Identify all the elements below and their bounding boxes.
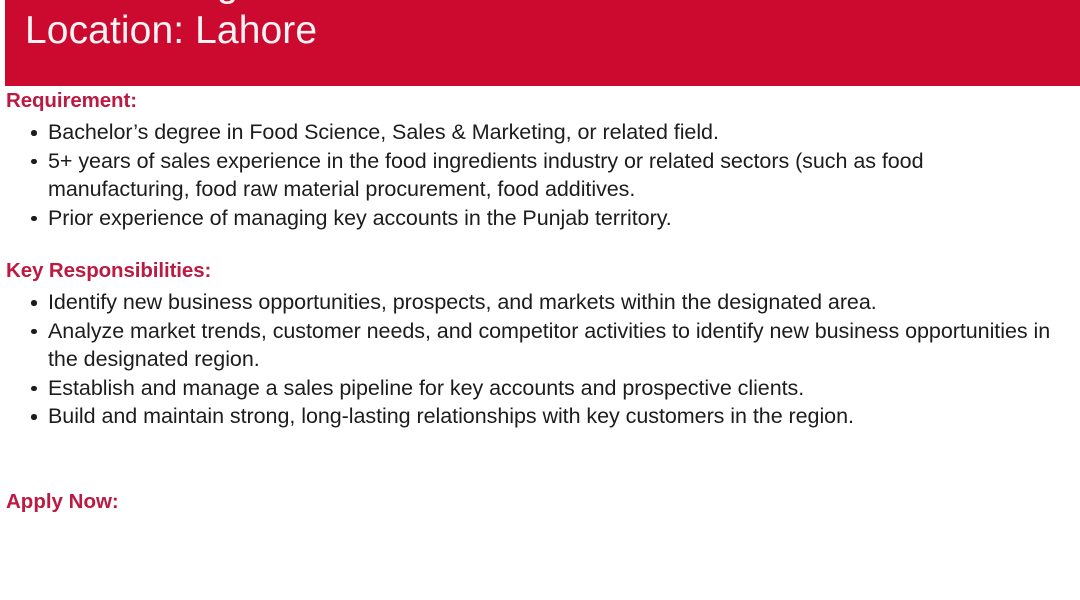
section-spacer [0, 431, 1080, 489]
list-item: Establish and manage a sales pipeline fo… [0, 374, 1080, 403]
requirement-section: Requirement: Bachelor’s degree in Food S… [0, 88, 1080, 232]
requirement-heading: Requirement: [0, 88, 1080, 114]
list-item: 5+ years of sales experience in the food… [0, 147, 1080, 204]
list-item: Prior experience of managing key account… [0, 204, 1080, 233]
responsibilities-section: Key Responsibilities: Identify new busin… [0, 258, 1080, 431]
responsibilities-list: Identify new business opportunities, pro… [0, 288, 1080, 431]
apply-section: Apply Now: [0, 489, 1080, 515]
job-posting-page: Area Manager Sales Location: Lahore Requ… [0, 0, 1080, 600]
requirement-list: Bachelor’s degree in Food Science, Sales… [0, 118, 1080, 232]
responsibilities-heading: Key Responsibilities: [0, 258, 1080, 284]
list-item: Analyze market trends, customer needs, a… [0, 317, 1080, 374]
job-details-content: Requirement: Bachelor’s degree in Food S… [0, 88, 1080, 515]
apply-now-heading: Apply Now: [0, 489, 1080, 515]
list-item: Identify new business opportunities, pro… [0, 288, 1080, 317]
header-banner: Area Manager Sales Location: Lahore [5, 0, 1080, 86]
job-title: Area Manager Sales [25, 0, 1080, 7]
list-item: Build and maintain strong, long-lasting … [0, 402, 1080, 431]
list-item: Bachelor’s degree in Food Science, Sales… [0, 118, 1080, 147]
section-spacer [0, 232, 1080, 258]
job-location: Location: Lahore [25, 7, 1080, 54]
